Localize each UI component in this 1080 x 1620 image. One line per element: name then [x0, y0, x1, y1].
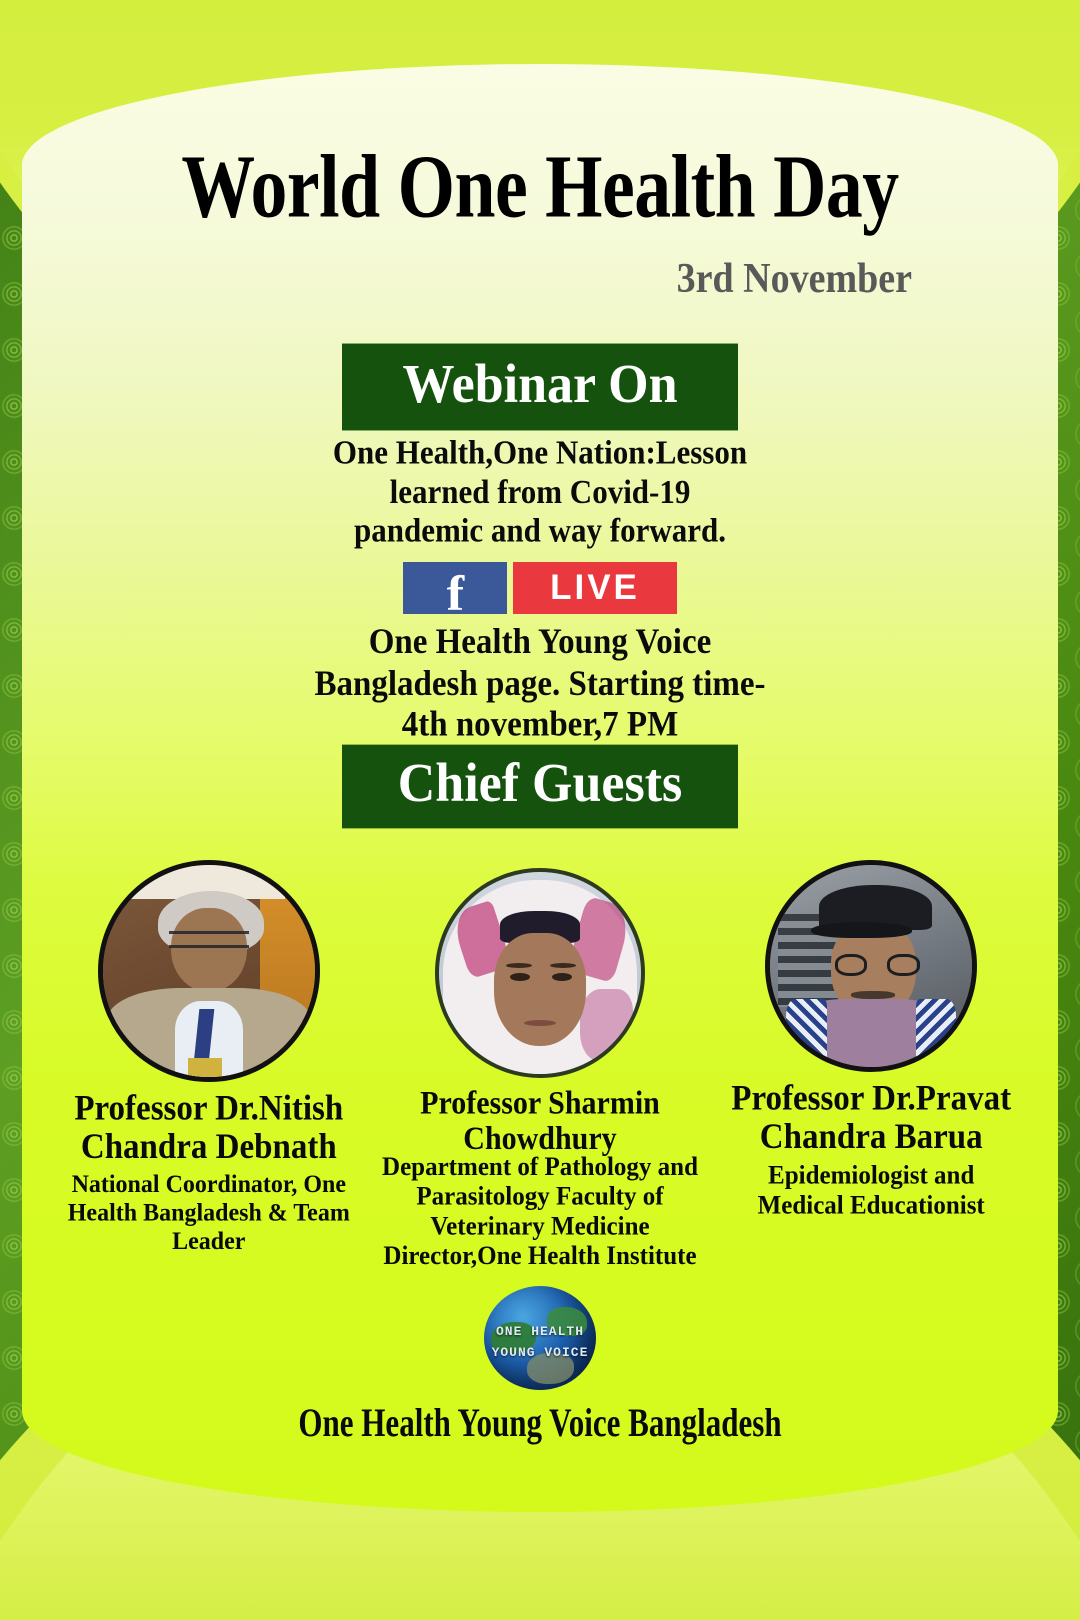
poster-root: World One Health Day 3rd November Webina… [0, 0, 1080, 1620]
guest-name: Professor Sharmin Chowdhury [362, 1086, 717, 1157]
guest-card: Professor Dr.Nitish Chandra Debnath Nati… [60, 860, 358, 1253]
guest-card: Professor Dr.Pravat Chandra Barua Epidem… [722, 860, 1020, 1219]
guest-role: Epidemiologist and Medical Educationist [722, 1161, 1020, 1220]
page-title: World One Health Day [71, 142, 1010, 233]
guest-name: Professor Dr.Nitish Chandra Debnath [60, 1089, 358, 1167]
avatar [765, 860, 977, 1072]
poster-canvas: World One Health Day 3rd November Webina… [22, 64, 1058, 1512]
live-label: LIVE [550, 568, 640, 608]
guest-role: National Coordinator, One Health Banglad… [60, 1170, 358, 1255]
guest-name: Professor Dr.Pravat Chandra Barua [722, 1079, 1020, 1157]
chief-guests-banner: Chief Guests [342, 745, 738, 829]
chief-guests-row: Professor Dr.Nitish Chandra Debnath Nati… [56, 852, 1024, 1268]
broadcast-info: One Health Young Voice Bangladesh page. … [305, 623, 775, 747]
footer: ONE HEALTH YOUNG VOICE One Health Young … [56, 1286, 1024, 1443]
avatar [98, 860, 320, 1082]
logo-line-one: ONE HEALTH [484, 1324, 596, 1339]
logo-line-two: YOUNG VOICE [484, 1345, 596, 1360]
facebook-live-badge[interactable]: f LIVE [403, 562, 677, 614]
event-date: 3rd November [56, 254, 1024, 303]
facebook-f-glyph: f [446, 568, 463, 618]
organization-name: One Health Young Voice Bangladesh [85, 1402, 995, 1447]
live-chip: LIVE [513, 562, 677, 614]
avatar [435, 868, 645, 1078]
guest-role: Department of Pathology and Parasitology… [362, 1153, 717, 1272]
title-block: World One Health Day 3rd November [56, 64, 1024, 298]
globe-logo-icon: ONE HEALTH YOUNG VOICE [484, 1286, 596, 1390]
facebook-f-icon: f [403, 562, 507, 614]
guest-card: Professor Sharmin Chowdhury Department o… [362, 868, 717, 1268]
webinar-banner: Webinar On [342, 343, 738, 430]
webinar-topic: One Health,One Nation:Lesson learned fro… [330, 432, 750, 550]
